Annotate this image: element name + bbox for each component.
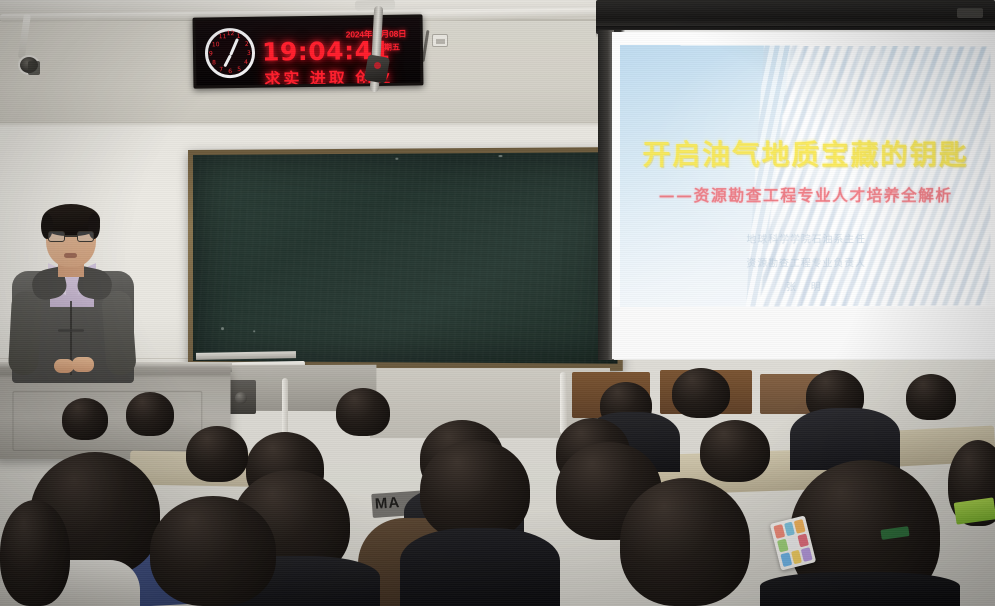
slide-subtitle: ——资源勘查工程专业人才培养全解析 [620, 182, 990, 206]
desk-knob-icon [235, 392, 247, 404]
audience-head [620, 478, 750, 606]
audience-head [672, 368, 730, 418]
audience-head [150, 496, 276, 606]
blackboard-surface [193, 152, 618, 363]
camera-housing [28, 61, 40, 75]
lecture-hall-photo: 12 1 2 3 4 5 6 7 8 9 10 11 19:04:41 2024… [0, 0, 995, 606]
slide-title: 开启油气地质宝藏的钥匙 [620, 133, 990, 173]
clock-hour-hand [223, 54, 232, 67]
glasses-icon [48, 231, 94, 242]
wall-pipe-right [560, 372, 567, 434]
slide-presenter-name: 张 明 [620, 278, 990, 294]
audience-head [906, 374, 956, 420]
presenter-pocket [58, 329, 84, 332]
presenter-hand-right [72, 357, 94, 372]
presenter-hand-left [54, 359, 74, 373]
blackboard-frame [188, 147, 623, 371]
wall-power-socket [432, 34, 448, 47]
wall-seam-left [0, 122, 600, 123]
audience-head [186, 426, 248, 482]
casing-cap [957, 8, 983, 18]
audience-head [336, 388, 390, 436]
audience-head [420, 440, 530, 540]
audience-head [62, 398, 108, 440]
clock-minute-hand [229, 38, 238, 56]
audience-body [400, 528, 560, 606]
audience-body [760, 572, 960, 606]
glasses-lens-left [48, 231, 65, 242]
phone-app-grid [773, 519, 812, 567]
screen-lower-blank [612, 307, 995, 359]
presenter-arm-left [8, 290, 42, 375]
audience-head [700, 420, 770, 482]
glasses-lens-right [77, 231, 94, 242]
glasses-bridge [65, 235, 77, 237]
microphone-head-icon [364, 54, 390, 83]
slide-presenter-role-1: 地球科学学院石油系主任 [620, 230, 990, 246]
audience-head [126, 392, 174, 436]
presenter-mouth [64, 253, 77, 258]
led-clock-display: 12 1 2 3 4 5 6 7 8 9 10 11 19:04:41 2024… [193, 14, 424, 88]
audience-head [0, 500, 70, 606]
presenter [8, 205, 140, 380]
slide-presenter-role-2: 资源勘查工程专业负责人 [620, 254, 990, 270]
presentation-slide: 开启油气地质宝藏的钥匙 ——资源勘查工程专业人才培养全解析 地球科学学院石油系主… [620, 45, 990, 307]
security-camera-icon [18, 55, 40, 75]
microphone-indicator-icon [374, 62, 381, 69]
blackboard-chalk-grain [193, 152, 618, 363]
presenter-arm-right [101, 290, 137, 376]
audience-body [790, 408, 900, 470]
